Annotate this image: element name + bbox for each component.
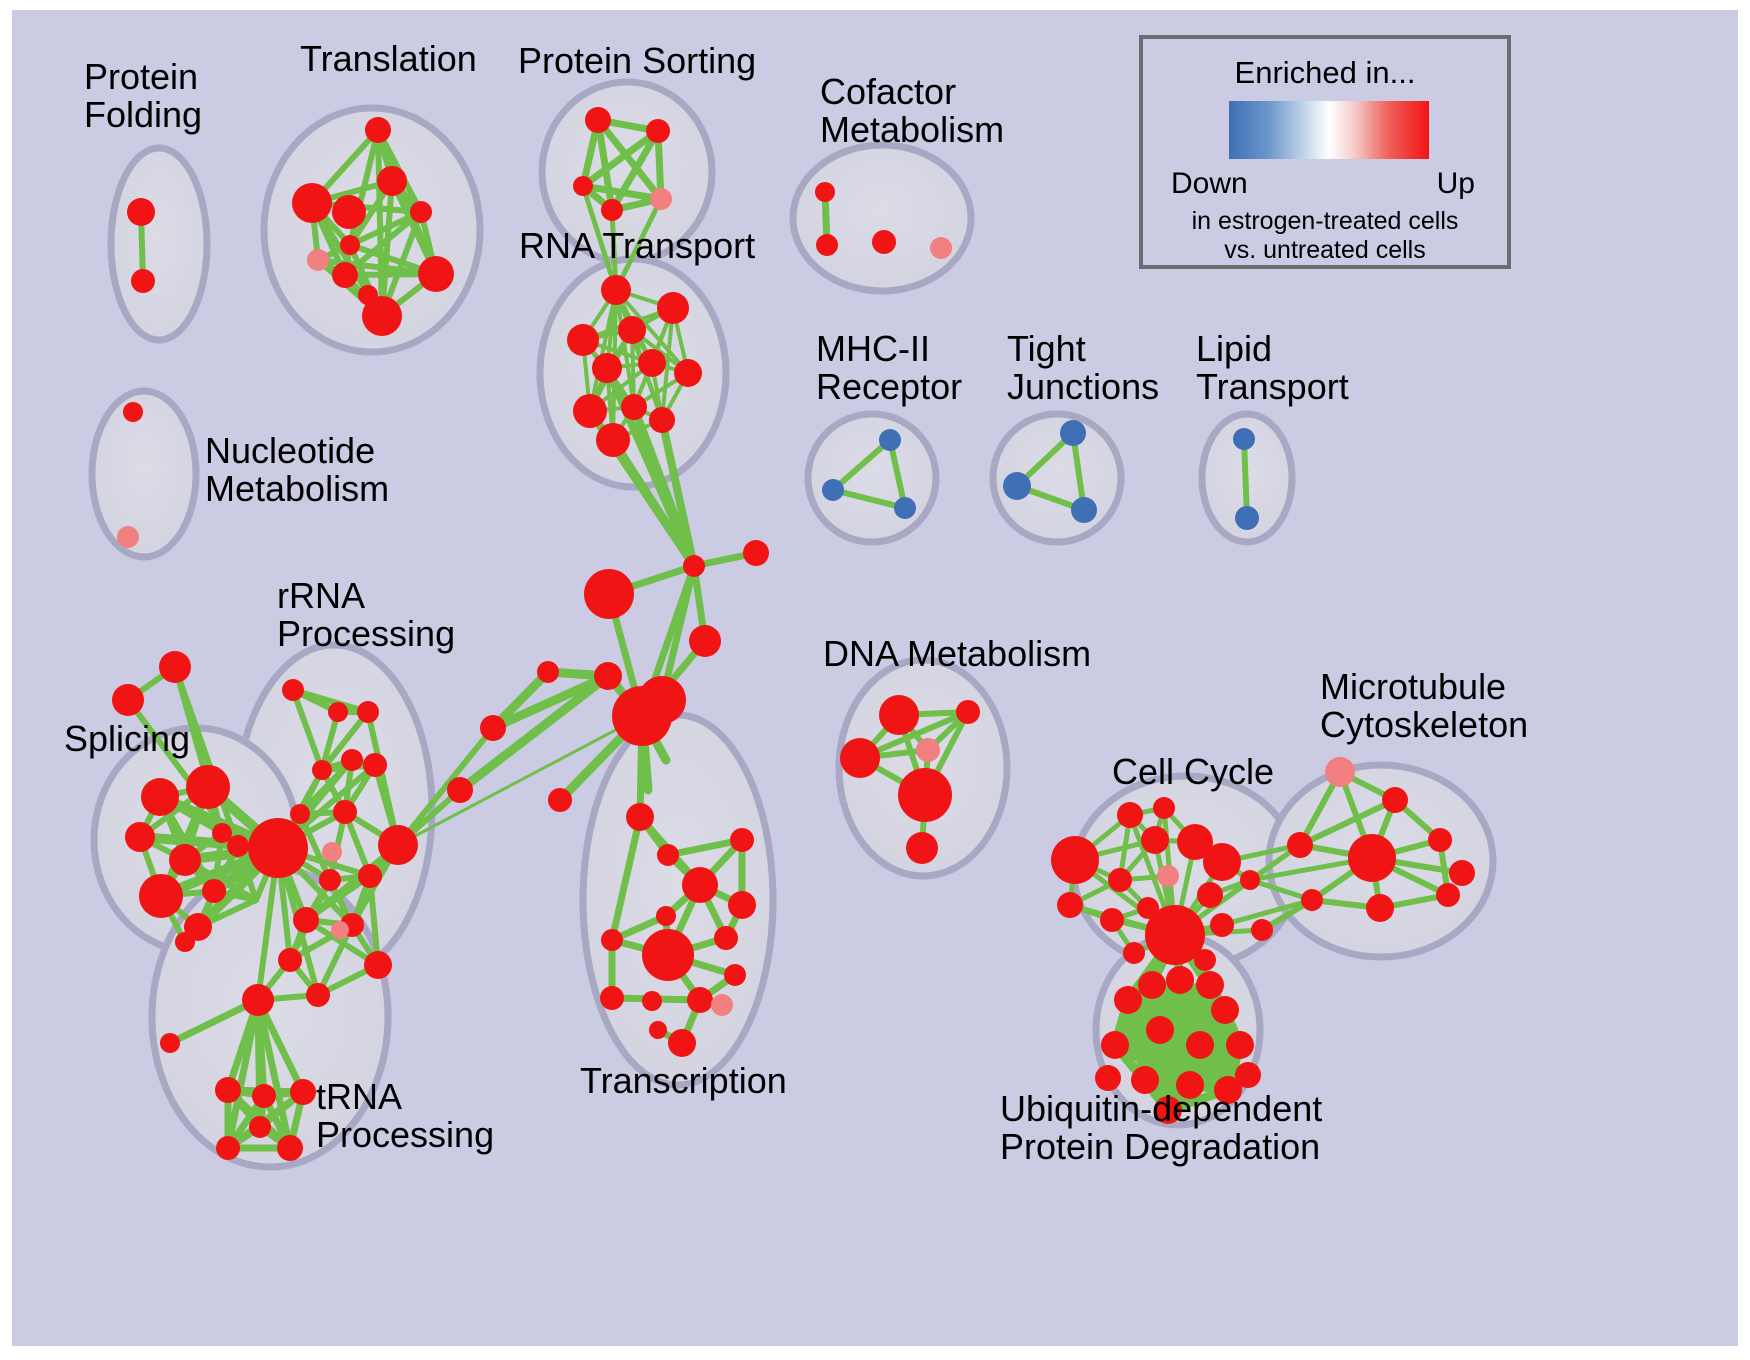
cluster-label-cell-cycle: Cell Cycle	[1112, 753, 1274, 791]
cluster-label-tight-junctions: Tight Junctions	[1007, 330, 1159, 406]
cluster-label-mhc-ii-receptor: MHC-II Receptor	[816, 330, 962, 406]
cluster-label-lipid-transport: Lipid Transport	[1196, 330, 1349, 406]
cluster-label-ubiquitin-degradation: Ubiquitin-dependent Protein Degradation	[1000, 1090, 1322, 1166]
cluster-label-translation: Translation	[300, 40, 477, 78]
legend-caption-line2: vs. untreated cells	[1224, 236, 1426, 264]
legend-caption: in estrogen-treated cellsvs. untreated c…	[1143, 207, 1507, 265]
legend-box: Enriched in... Down Up in estrogen-treat…	[1139, 35, 1511, 269]
legend-low-label: Down	[1171, 167, 1248, 201]
cluster-label-trna-processing: tRNA Processing	[316, 1078, 494, 1154]
legend-color-gradient	[1229, 101, 1429, 159]
cluster-label-splicing: Splicing	[64, 720, 190, 758]
legend-caption-line1: in estrogen-treated cells	[1192, 207, 1459, 235]
hull-protein-folding	[111, 148, 207, 340]
hull-cofactor-metabolism	[793, 145, 971, 291]
cluster-label-rna-transport: RNA Transport	[519, 227, 755, 265]
cluster-label-nucleotide-metabolism: Nucleotide Metabolism	[205, 432, 389, 508]
cluster-label-protein-sorting: Protein Sorting	[518, 42, 756, 80]
hull-mhc-ii	[808, 414, 936, 542]
legend-high-label: Up	[1437, 167, 1475, 201]
cluster-label-dna-metabolism: DNA Metabolism	[823, 635, 1091, 673]
figure-canvas: .hull{fill:url(#hullg);stroke:#a8a8c4;st…	[0, 0, 1750, 1360]
legend-title: Enriched in...	[1143, 55, 1507, 91]
cluster-label-rrna-processing: rRNA Processing	[277, 577, 455, 653]
cluster-label-cofactor-metabolism: Cofactor Metabolism	[820, 73, 1004, 149]
cluster-label-microtubule: Microtubule Cytoskeleton	[1320, 668, 1528, 744]
cluster-label-protein-folding: Protein Folding	[84, 58, 202, 134]
hull-nucleotide-metabolism	[92, 391, 196, 557]
cluster-label-transcription: Transcription	[580, 1062, 787, 1100]
